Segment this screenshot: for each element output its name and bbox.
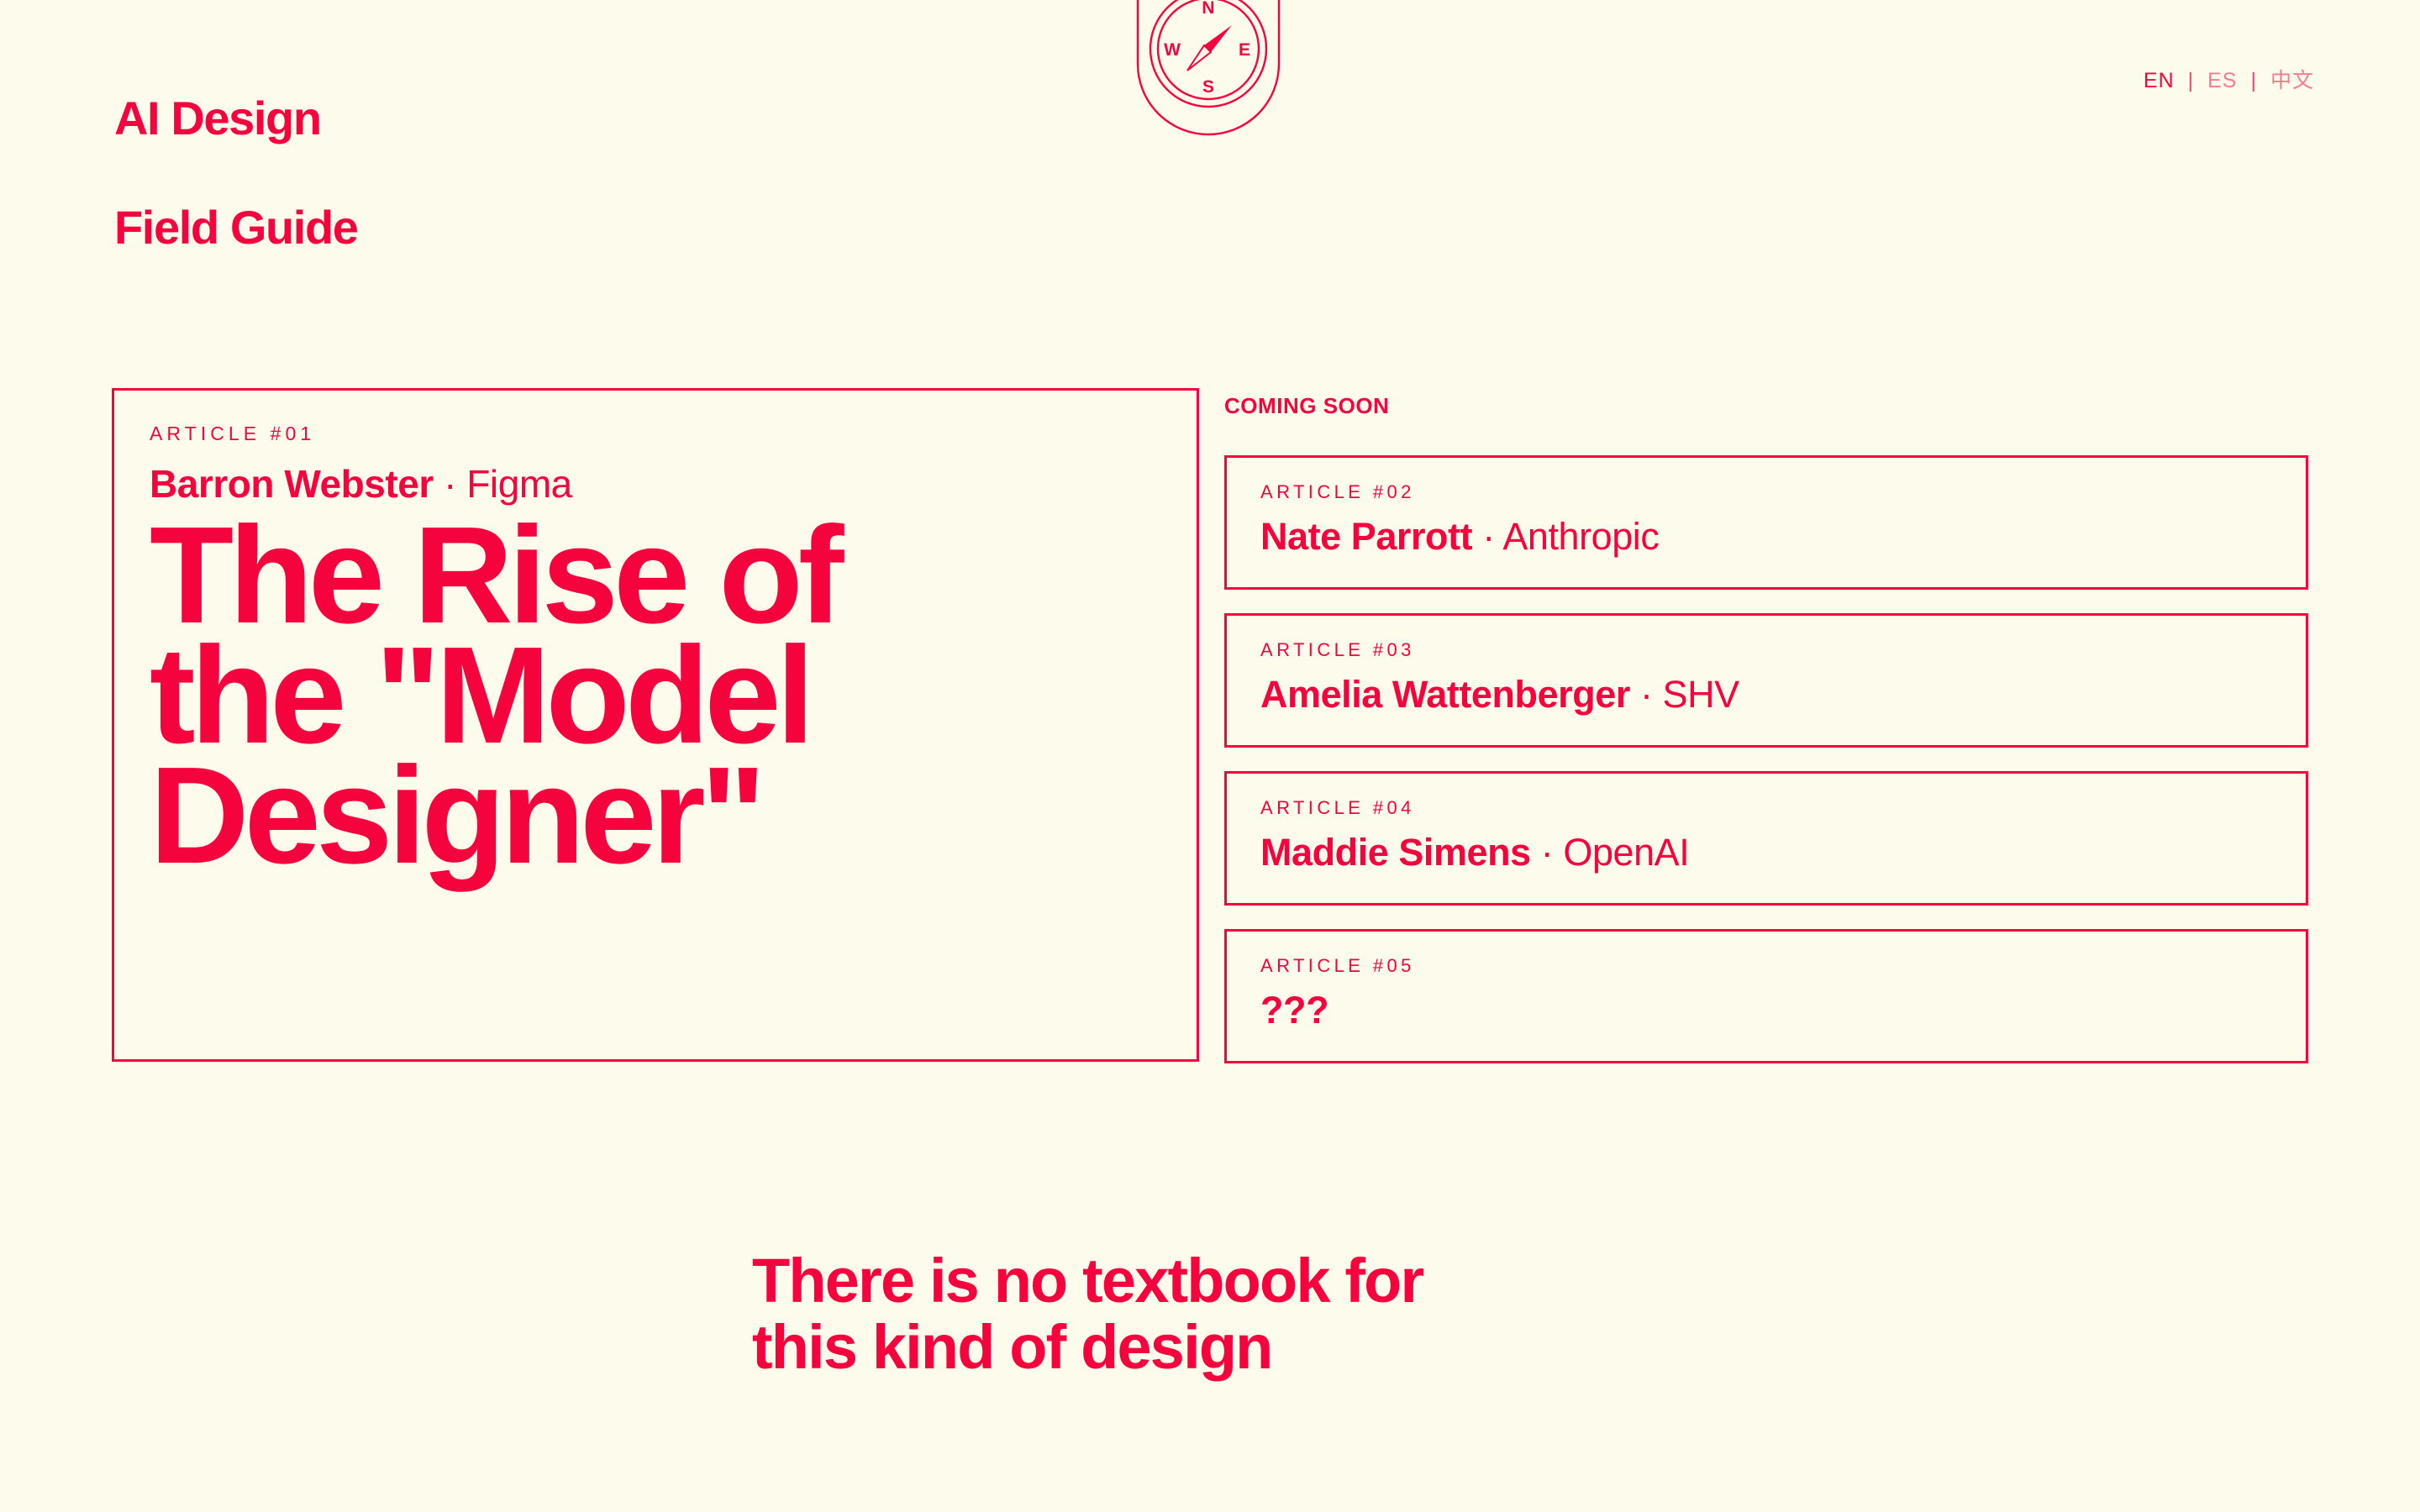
coming-soon-card-05[interactable]: ARTICLE #05 ??? — [1224, 929, 2308, 1063]
article-org-02: Anthropic — [1502, 515, 1659, 558]
coming-soon-card-03[interactable]: ARTICLE #03 Amelia Wattenberger · SHV — [1224, 613, 2308, 748]
svg-text:W: W — [1164, 40, 1181, 60]
featured-article-number: ARTICLE #01 — [150, 424, 1197, 444]
featured-article-card[interactable]: ARTICLE #01 Barron Webster · Figma The R… — [112, 388, 1199, 1062]
article-byline-05: ??? — [1260, 990, 2306, 1030]
article-author-04: Maddie Simens — [1260, 831, 1531, 874]
compass-badge-icon: N E S W — [1130, 0, 1286, 143]
lang-option-en[interactable]: EN — [2130, 71, 2188, 92]
article-separator-02: · — [1472, 515, 1502, 558]
article-org-04: OpenAI — [1563, 831, 1689, 874]
article-number-02: ARTICLE #02 — [1260, 483, 2306, 501]
brand-logo[interactable]: AI Design Field Guide — [114, 37, 358, 310]
coming-soon-label: COMING SOON — [1224, 395, 2308, 417]
svg-text:N: N — [1202, 0, 1214, 18]
site-tagline: There is no textbook for this kind of de… — [752, 1247, 1423, 1380]
featured-article-headline: The Rise of the "Model Designer" — [150, 516, 1276, 875]
article-separator-04: · — [1531, 831, 1564, 874]
lang-separator-1: | — [2188, 71, 2195, 92]
article-author-05: ??? — [1260, 989, 1328, 1032]
lang-separator-2: | — [2250, 71, 2257, 92]
svg-text:S: S — [1202, 77, 1214, 97]
site-header: AI Design Field Guide N E S W EN | ES | … — [0, 0, 2420, 168]
article-separator-03: · — [1630, 673, 1663, 716]
coming-soon-section: COMING SOON ARTICLE #02 Nate Parrott · A… — [1224, 388, 2308, 1063]
article-number-03: ARTICLE #03 — [1260, 641, 2306, 659]
brand-line-1: AI Design — [114, 92, 358, 146]
article-byline-02: Nate Parrott · Anthropic — [1260, 517, 2306, 556]
coming-soon-card-02[interactable]: ARTICLE #02 Nate Parrott · Anthropic — [1224, 455, 2308, 590]
article-number-05: ARTICLE #05 — [1260, 957, 2306, 975]
article-author-02: Nate Parrott — [1260, 515, 1472, 558]
lang-option-zh[interactable]: 中文 — [2257, 71, 2328, 92]
brand-line-2: Field Guide — [114, 201, 358, 255]
article-org-03: SHV — [1663, 673, 1739, 716]
lang-option-es[interactable]: ES — [2194, 71, 2250, 92]
svg-text:E: E — [1239, 40, 1250, 60]
language-switcher[interactable]: EN | ES | 中文 — [2130, 71, 2328, 92]
coming-soon-card-04[interactable]: ARTICLE #04 Maddie Simens · OpenAI — [1224, 771, 2308, 906]
article-byline-04: Maddie Simens · OpenAI — [1260, 832, 2306, 872]
article-byline-03: Amelia Wattenberger · SHV — [1260, 675, 2306, 714]
featured-article-body: ARTICLE #01 Barron Webster · Figma The R… — [114, 391, 1197, 875]
article-number-04: ARTICLE #04 — [1260, 799, 2306, 817]
article-author-03: Amelia Wattenberger — [1260, 673, 1630, 716]
